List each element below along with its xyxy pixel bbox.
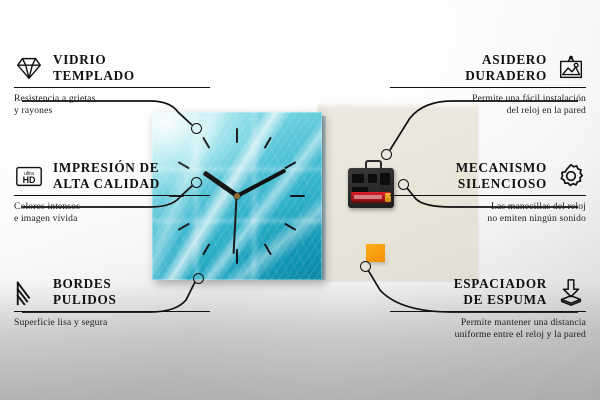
feature-desc-line1: Permite una fácil instalación	[390, 93, 586, 105]
feature-desc-line2: y rayones	[14, 105, 210, 117]
feature-desc-line1: Permite mantener una distancia	[390, 317, 586, 329]
feature-title-line1: ESPACIADOR	[454, 276, 547, 292]
diamond-icon	[14, 53, 44, 83]
infographic-canvas: VIDRIO TEMPLADO Resistencia a grietas y …	[0, 0, 600, 400]
callout-node-vidrio-templado[interactable]	[191, 123, 202, 134]
feature-desc-line1: Las manecillas del reloj	[390, 201, 586, 213]
feature-title-line2: TEMPLADO	[53, 68, 135, 84]
feature-divider	[390, 87, 586, 88]
feature-vidrio-templado: VIDRIO TEMPLADO Resistencia a grietas y …	[14, 52, 210, 117]
polished-edges-icon	[14, 277, 44, 307]
svg-text:HD: HD	[23, 175, 36, 185]
feature-asidero-duradero: ASIDERO DURADERO Permite una fácil insta…	[390, 52, 586, 117]
feature-desc-line1: Superficie lisa y segura	[14, 317, 210, 329]
wall-hanger-icon	[556, 53, 586, 83]
feature-divider	[390, 311, 586, 312]
feature-bordes-pulidos: BORDES PULIDOS Superficie lisa y segura	[14, 276, 210, 329]
gear-icon	[556, 161, 586, 191]
feature-title-line2: DE ESPUMA	[454, 292, 547, 308]
feature-divider	[14, 311, 210, 312]
feature-desc-line2: del reloj en la pared	[390, 105, 586, 117]
feature-title-line1: ASIDERO	[465, 52, 547, 68]
feature-divider	[14, 195, 210, 196]
feature-title-line2: DURADERO	[465, 68, 547, 84]
feature-title-line2: SILENCIOSO	[456, 176, 547, 192]
feature-title-line1: BORDES	[53, 276, 117, 292]
feature-divider	[390, 195, 586, 196]
feature-desc-line2: no emiten ningún sonido	[390, 213, 586, 225]
callout-node-asidero[interactable]	[381, 149, 392, 160]
feature-impresion-alta-calidad: ultra HD IMPRESIÓN DE ALTA CALIDAD Color…	[14, 160, 210, 225]
ultra-hd-icon: ultra HD	[14, 161, 44, 191]
feature-divider	[14, 87, 210, 88]
feature-title-line1: VIDRIO	[53, 52, 135, 68]
feature-desc-line2: e imagen vívida	[14, 213, 210, 225]
feature-title-line2: ALTA CALIDAD	[53, 176, 160, 192]
feature-title-line2: PULIDOS	[53, 292, 117, 308]
spacer-arrow-icon	[556, 277, 586, 307]
feature-title-line1: MECANISMO	[456, 160, 547, 176]
feature-desc-line1: Resistencia a grietas	[14, 93, 210, 105]
callout-node-espaciador[interactable]	[360, 261, 371, 272]
feature-mecanismo-silencioso: MECANISMO SILENCIOSO Las manecillas del …	[390, 160, 586, 225]
feature-title-line1: IMPRESIÓN DE	[53, 160, 160, 176]
feature-desc-line2: uniforme entre el reloj y la pared	[390, 329, 586, 341]
feature-espaciador-de-espuma: ESPACIADOR DE ESPUMA Permite mantener un…	[390, 276, 586, 341]
feature-desc-line1: Colores intensos	[14, 201, 210, 213]
